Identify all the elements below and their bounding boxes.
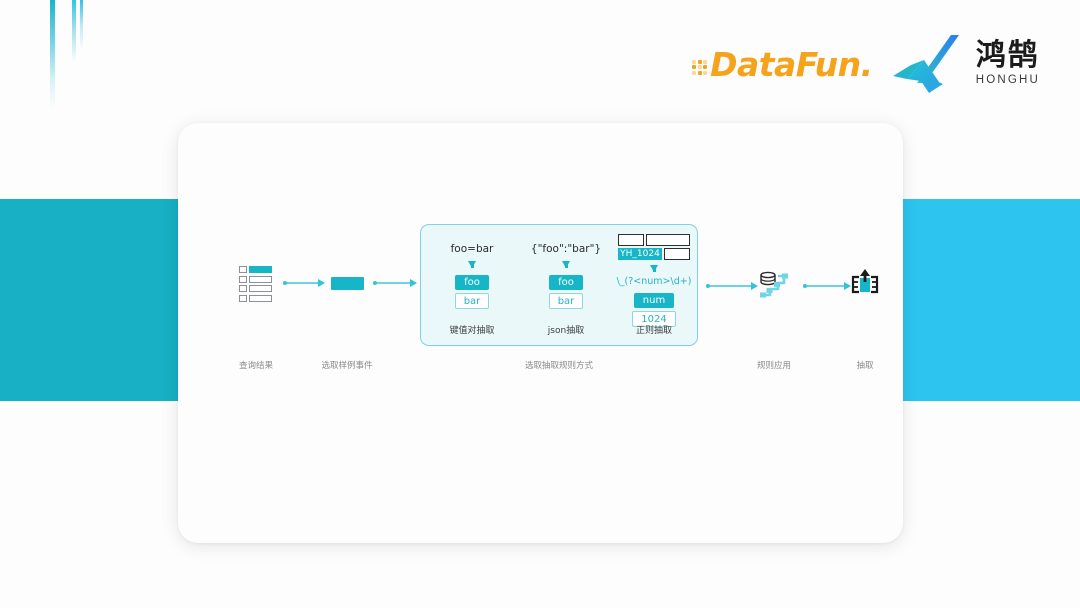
- honghu-cn-text: 鸿鹄: [976, 41, 1040, 71]
- decorative-stripe: [50, 0, 55, 108]
- arrow-down-icon: [562, 261, 570, 268]
- extraction-flow-diagram: 查询结果 选取样例事件 foo=bar foo bar 键值对抽取 {"foo"…: [178, 123, 903, 543]
- kv-value-tag: bar: [455, 293, 490, 309]
- datafun-logo: DataFun.: [692, 48, 873, 81]
- honghu-logo: 鸿鹄 HONGHU: [891, 33, 1040, 95]
- kv-caption: 键值对抽取: [425, 323, 519, 336]
- bird-logo-icon: [891, 33, 969, 95]
- step-label-extract: 抽取: [856, 359, 873, 371]
- json-caption: json抽取: [519, 323, 613, 336]
- logo-row: DataFun. 鸿鹄 HONGHU: [692, 33, 1040, 95]
- flow-arrow: [803, 281, 851, 291]
- database-pipeline-icon: [758, 268, 792, 307]
- arrow-down-icon: [650, 265, 658, 272]
- right-color-band: [902, 199, 1080, 401]
- kv-key-tag: foo: [455, 275, 489, 290]
- step-label-rule-apply: 规则应用: [757, 359, 791, 371]
- regex-caption: 正则抽取: [607, 323, 701, 336]
- content-card: 查询结果 选取样例事件 foo=bar foo bar 键值对抽取 {"foo"…: [178, 123, 903, 543]
- step-label-sample-event: 选取样例事件: [321, 359, 372, 371]
- decorative-stripe: [72, 0, 76, 62]
- rule-option-regex[interactable]: YH_1024 \_(?<num>\d+) num 1024 正则抽取: [607, 225, 701, 345]
- honghu-en-text: HONGHU: [976, 75, 1040, 87]
- kv-sample-text: foo=bar: [425, 243, 519, 255]
- block-icon: [331, 277, 364, 290]
- flow-arrow: [706, 281, 758, 291]
- extract-upload-icon: [848, 266, 882, 305]
- decorative-stripe: [80, 0, 83, 50]
- rule-option-key-value[interactable]: foo=bar foo bar 键值对抽取: [425, 225, 519, 345]
- datafun-wordmark: DataFun.: [710, 48, 873, 81]
- json-key-tag: foo: [549, 275, 583, 290]
- json-sample-text: {"foo":"bar"}: [519, 243, 613, 255]
- regex-table-cell-value: YH_1024: [618, 248, 662, 260]
- arrow-down-icon: [468, 261, 476, 268]
- list-rows-icon: [239, 266, 273, 300]
- left-color-band: [0, 199, 203, 401]
- dot-matrix-icon: [692, 60, 707, 75]
- regex-key-tag: num: [634, 293, 674, 308]
- regex-sample-table: YH_1024: [618, 234, 690, 260]
- honghu-wordmark: 鸿鹄 HONGHU: [976, 41, 1040, 87]
- flow-arrow: [283, 278, 325, 288]
- flow-arrow: [373, 278, 417, 288]
- json-value-tag: bar: [549, 293, 584, 309]
- rule-selection-panel[interactable]: foo=bar foo bar 键值对抽取 {"foo":"bar"} foo …: [420, 224, 698, 346]
- regex-pattern-text: \_(?<num>\d+): [607, 276, 701, 287]
- step-label-query-result: 查询结果: [239, 359, 273, 371]
- rule-option-json[interactable]: {"foo":"bar"} foo bar json抽取: [519, 225, 613, 345]
- step-label-rule-method: 选取抽取规则方式: [525, 359, 593, 371]
